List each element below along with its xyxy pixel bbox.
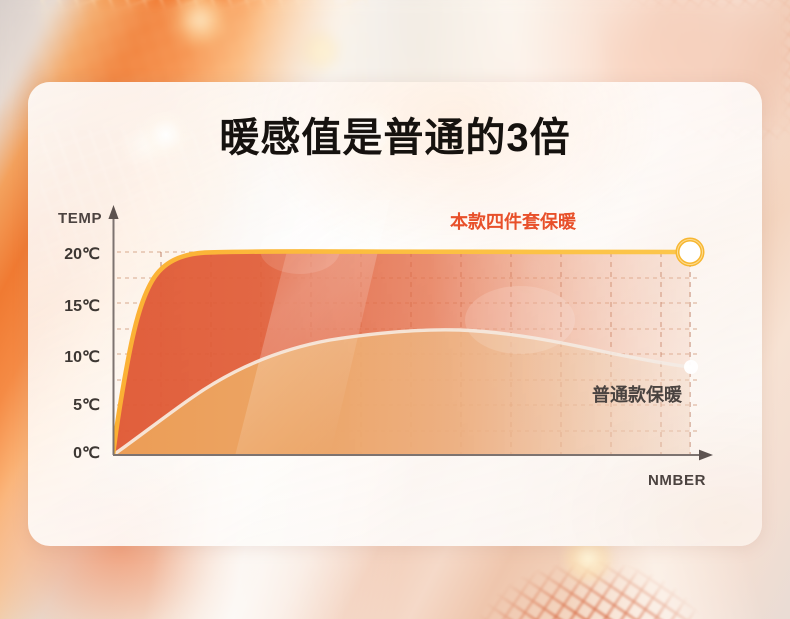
y-tick-10: 10℃	[44, 347, 100, 367]
y-tick-20: 20℃	[44, 244, 100, 264]
product-infographic-page: 暖感值是普通的3倍	[0, 0, 790, 619]
x-axis-title: NMBER	[648, 472, 706, 489]
page-title: 暖感值是普通的3倍	[0, 118, 790, 158]
y-tick-5: 5℃	[44, 395, 100, 415]
y-tick-0: 0℃	[44, 443, 100, 463]
card-highlight-3	[498, 242, 568, 294]
series-label-premium: 本款四件套保暖	[450, 208, 576, 234]
y-tick-15: 15℃	[44, 296, 100, 316]
y-axis-title: TEMP	[58, 210, 102, 227]
series-label-ordinary: 普通款保暖	[592, 381, 682, 407]
